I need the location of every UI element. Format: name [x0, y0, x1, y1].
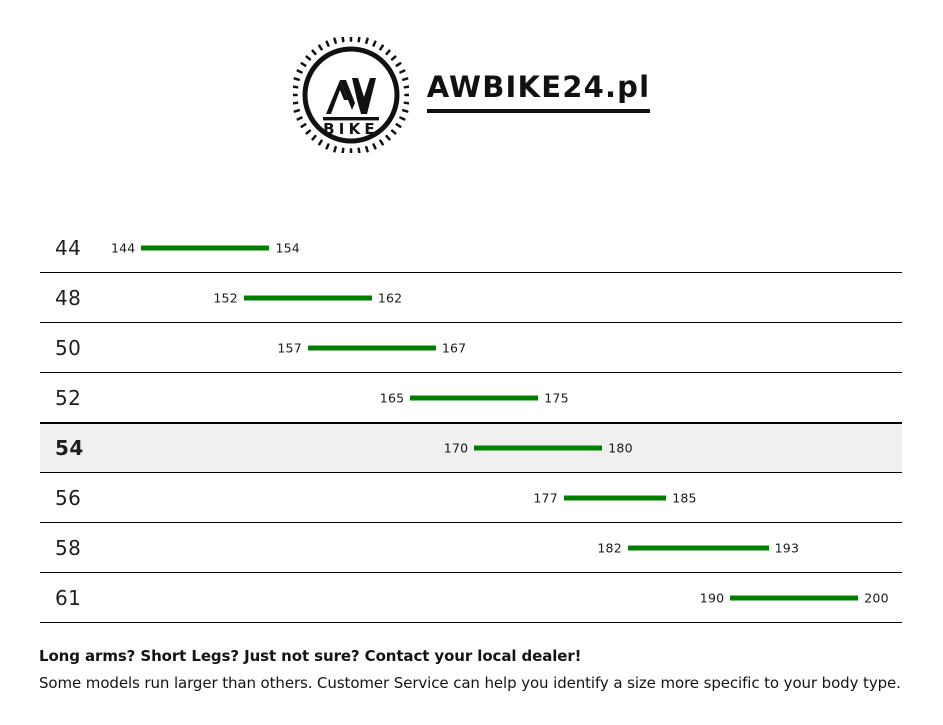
range-max-label: 185: [672, 490, 696, 505]
range-max-label: 154: [275, 240, 299, 255]
size-label: 50: [55, 336, 81, 360]
range-max-label: 200: [864, 590, 888, 605]
size-label: 44: [55, 236, 81, 260]
size-row[interactable]: 50157167: [40, 323, 902, 373]
range-min-label: 182: [597, 540, 621, 555]
range-min-label: 170: [444, 441, 468, 456]
size-label: 52: [55, 386, 81, 410]
size-row[interactable]: 61190200: [40, 573, 902, 623]
range-min-label: 190: [700, 590, 724, 605]
brand-wordmark-text: AWBIKE24.pl: [427, 73, 651, 102]
size-row[interactable]: 44144154: [40, 223, 902, 273]
range-min-label: 157: [277, 340, 301, 355]
range-min-label: 177: [533, 490, 557, 505]
height-range: 190200: [700, 590, 889, 605]
height-range: 177185: [533, 490, 696, 505]
brand-header: BIKE AWBIKE24.pl: [0, 0, 943, 200]
brand-wordmark-underline: [427, 109, 651, 113]
range-bar: [410, 395, 538, 400]
height-range: 182193: [597, 540, 799, 555]
footer-note: Long arms? Short Legs? Just not sure? Co…: [39, 646, 919, 695]
height-range: 170180: [444, 441, 633, 456]
size-row[interactable]: 54170180: [40, 423, 902, 473]
size-label: 48: [55, 286, 81, 310]
range-bar: [244, 295, 372, 300]
range-bar: [628, 545, 769, 550]
size-label: 56: [55, 486, 81, 510]
height-range: 152162: [213, 290, 402, 305]
range-bar: [474, 446, 602, 451]
height-range: 144154: [111, 240, 300, 255]
range-min-label: 152: [213, 290, 237, 305]
range-bar: [564, 495, 666, 500]
size-label: 54: [55, 436, 84, 460]
footer-body: Some models run larger than others. Cust…: [39, 673, 919, 695]
range-min-label: 165: [380, 390, 404, 405]
height-range: 165175: [380, 390, 569, 405]
size-chart: 4414415448152162501571675216517554170180…: [40, 223, 902, 623]
size-label: 58: [55, 536, 81, 560]
range-bar: [730, 595, 858, 600]
awbike-gear-logo-icon: BIKE: [293, 37, 409, 153]
brand-lockup: BIKE AWBIKE24.pl: [293, 37, 651, 153]
range-min-label: 144: [111, 240, 135, 255]
range-bar: [308, 345, 436, 350]
range-max-label: 180: [608, 441, 632, 456]
size-row[interactable]: 56177185: [40, 473, 902, 523]
size-row[interactable]: 52165175: [40, 373, 902, 423]
range-max-label: 167: [442, 340, 466, 355]
range-max-label: 193: [775, 540, 799, 555]
footer-heading: Long arms? Short Legs? Just not sure? Co…: [39, 646, 919, 668]
height-range: 157167: [277, 340, 466, 355]
brand-wordmark: AWBIKE24.pl: [427, 73, 651, 117]
svg-text:BIKE: BIKE: [323, 120, 379, 138]
size-row[interactable]: 58182193: [40, 523, 902, 573]
size-label: 61: [55, 586, 81, 610]
range-max-label: 162: [378, 290, 402, 305]
range-bar: [141, 245, 269, 250]
size-row[interactable]: 48152162: [40, 273, 902, 323]
range-max-label: 175: [544, 390, 568, 405]
